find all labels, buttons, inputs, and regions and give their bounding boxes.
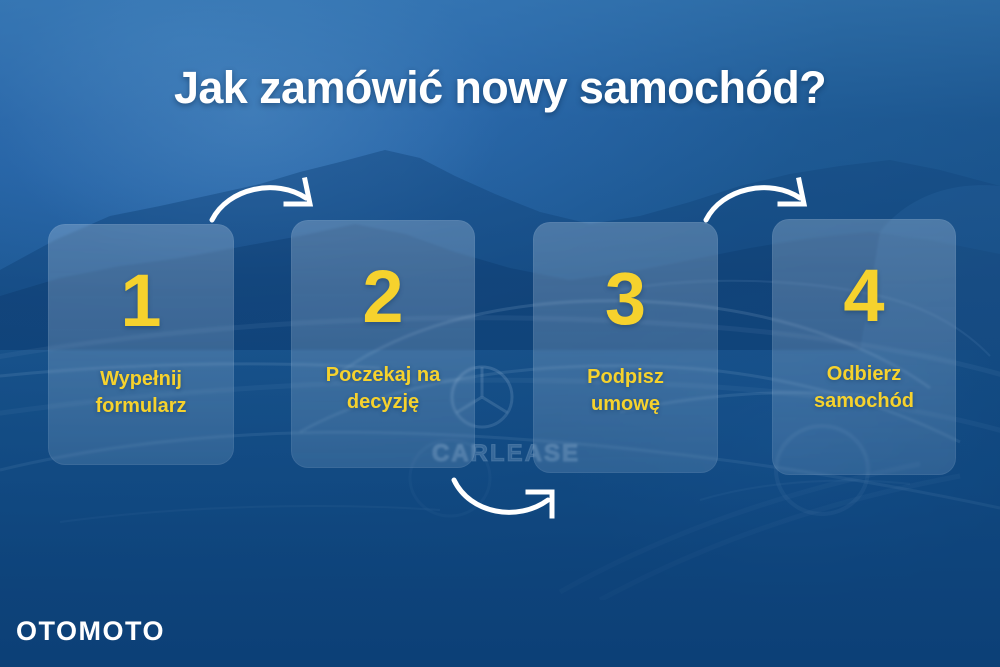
step-label-1-line1: Wypełnij	[100, 368, 182, 390]
step-label-2-line1: Poczekaj na	[326, 364, 441, 386]
step-card-4: 4 Odbierz samochód	[772, 219, 956, 475]
step-number-1: 1	[48, 264, 234, 338]
step-label-2: Poczekaj na decyzję	[299, 362, 467, 416]
page-title: Jak zamówić nowy samochód?	[0, 62, 1000, 114]
step-card-3: 3 Podpisz umowę	[533, 222, 718, 473]
step-label-4: Odbierz samochód	[780, 361, 948, 415]
step-label-2-line2: decyzję	[347, 391, 419, 413]
step-label-4-line1: Odbierz	[827, 363, 901, 385]
step-label-1-line2: formularz	[95, 395, 186, 417]
step-number-4: 4	[772, 259, 956, 333]
step-number-3: 3	[533, 262, 718, 336]
step-label-3-line1: Podpisz	[587, 366, 664, 388]
step-number-2: 2	[291, 260, 475, 334]
arrow-step2-to-step3-icon	[448, 470, 568, 526]
step-label-1: Wypełnij formularz	[56, 366, 226, 420]
step-card-2: 2 Poczekaj na decyzję	[291, 220, 475, 468]
infographic-canvas: CARLEASE Jak zamówić nowy samochód? 1 Wy…	[0, 0, 1000, 667]
step-card-1: 1 Wypełnij formularz	[48, 224, 234, 465]
otomoto-logo: OTOMOTO	[16, 616, 165, 648]
step-label-4-line2: samochód	[814, 390, 914, 412]
step-label-3-line2: umowę	[591, 393, 660, 415]
step-label-3: Podpisz umowę	[541, 364, 710, 418]
